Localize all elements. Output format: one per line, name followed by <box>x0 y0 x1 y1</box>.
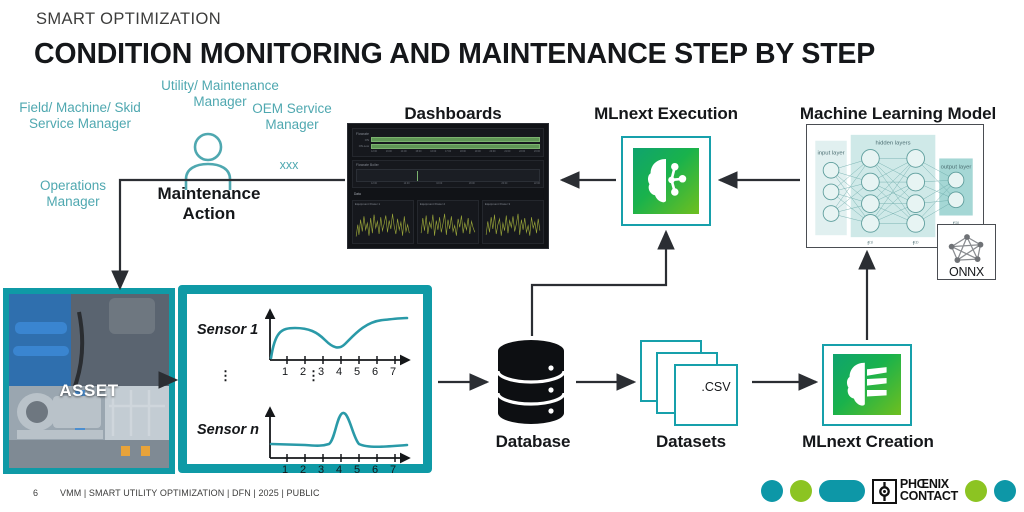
dashboard-cell-title: Equipment Power 2 <box>420 203 476 206</box>
xtick: 3 <box>318 464 324 476</box>
dashboard-cell-title: Equipment Power 3 <box>485 203 541 206</box>
xtick: 4 <box>336 464 342 476</box>
layer-annotation: f⁽¹⁾ <box>867 241 873 247</box>
sensor-n-chart <box>265 404 417 466</box>
mlnext-execution-label: MLnext Execution <box>570 104 762 124</box>
datasets-stack[interactable]: .CSV <box>640 340 748 428</box>
tick: 22:00 <box>534 182 540 185</box>
tick: 18:00 <box>460 150 466 153</box>
sensor-n-label: Sensor n <box>197 422 259 438</box>
eyebrow-text: SMART OPTIMIZATION <box>36 10 221 29</box>
logo-pill-teal <box>819 480 865 502</box>
database-label: Database <box>460 432 606 452</box>
sensor-1-chart <box>265 306 417 368</box>
footer-text: VMM | SMART UTILITY OPTIMIZATION | DFN |… <box>60 488 320 498</box>
tick: 22:00 <box>519 150 525 153</box>
dashboard-panel-title: Flowrate Boiler <box>356 163 540 167</box>
tick: 12:00 <box>371 182 377 185</box>
hidden-layers-label: hidden layers <box>876 141 911 147</box>
xtick: 7 <box>390 366 396 378</box>
tick: 16:00 <box>436 182 442 185</box>
asset-photo: ASSET <box>9 294 169 468</box>
tick: 17:00 <box>445 150 451 153</box>
role-label-operations-manager: Operations Manager <box>14 178 132 210</box>
tick: 23:00 <box>534 150 540 153</box>
xtick: 7 <box>390 464 396 476</box>
dashboards-panel[interactable]: Flowrate ON ON-Low 12:00 13:00 14:00 15:… <box>347 123 549 249</box>
state-bar <box>371 137 540 142</box>
logo-dot-teal-2 <box>994 480 1016 502</box>
csv-label: .CSV <box>684 380 748 394</box>
tick: 14:00 <box>404 182 410 185</box>
xtick: 6 <box>372 464 378 476</box>
mlnext-creation-icon <box>833 354 901 415</box>
dashboard-panel-flowrate: Flowrate ON ON-Low 12:00 13:00 14:00 15:… <box>352 128 544 157</box>
timeseries-chart <box>355 208 411 242</box>
xtick: 6 <box>372 366 378 378</box>
xtick: 4 <box>336 366 342 378</box>
logo-dot-green-1 <box>790 480 812 502</box>
machine-learning-model-label: Machine Learning Model <box>778 104 1018 124</box>
tick: 14:00 <box>401 150 407 153</box>
vertical-ellipsis-left: ⋮ <box>219 372 232 380</box>
tick: 18:00 <box>469 182 475 185</box>
mlnext-creation-label: MLnext Creation <box>772 432 964 452</box>
xtick: 5 <box>354 464 360 476</box>
role-label-extra: xxx <box>258 158 320 173</box>
datasets-label: Datasets <box>618 432 764 452</box>
sparkline-chart <box>356 169 540 182</box>
dashboard-section-title: Data <box>352 191 544 197</box>
dataset-sheet-front <box>674 364 738 426</box>
role-label-field-service-manager: Field/ Machine/ Skid Service Manager <box>12 100 148 132</box>
xtick: 2 <box>300 366 306 378</box>
mlnext-creation-card[interactable] <box>822 344 912 426</box>
phoenix-contact-mark: PHŒNIX CONTACT <box>872 479 958 504</box>
state-bar-key: ON <box>356 138 369 142</box>
onnx-label: ONNX <box>949 266 984 280</box>
sensor-1-label: Sensor 1 <box>197 322 258 338</box>
state-bar-row: ON <box>356 137 540 142</box>
tick: 12:00 <box>371 150 377 153</box>
dashboard-chart-cell: Equipment Power 3 <box>482 200 544 244</box>
onnx-badge[interactable]: ONNX <box>937 224 996 280</box>
output-layer-label: output layer <box>941 164 972 170</box>
dashboard-chart-cell: Equipment Power 2 <box>417 200 479 244</box>
dashboards-label: Dashboards <box>348 104 558 124</box>
dashboard-panel-title: Flowrate <box>356 132 540 136</box>
tick: 16:00 <box>430 150 436 153</box>
arrow-database-to-exec <box>532 232 666 336</box>
brand-logo: PHŒNIX CONTACT <box>761 478 1016 504</box>
dashboard-cell-title: Equipment Power 1 <box>355 203 411 206</box>
asset-card[interactable]: ASSET <box>3 288 175 474</box>
maintenance-action-label: Maintenance Action <box>134 184 284 223</box>
mlnext-brain-icon <box>633 148 699 214</box>
tick: 20:00 <box>501 182 507 185</box>
sensor-signals-card[interactable]: Sensor 1 Sensor n ⋮ ⋮ 1 2 3 4 5 6 7 <box>178 285 432 473</box>
tick: 15:00 <box>415 150 421 153</box>
tick: 20:00 <box>490 150 496 153</box>
tick: 19:00 <box>475 150 481 153</box>
onnx-graph-icon <box>942 233 992 266</box>
xtick: 2 <box>300 464 306 476</box>
time-axis: 12:00 14:00 16:00 18:00 20:00 22:00 <box>356 182 540 185</box>
brand-line-2: CONTACT <box>900 491 958 503</box>
logo-dot-green-2 <box>965 480 987 502</box>
xtick: 1 <box>282 366 288 378</box>
mlnext-execution-card[interactable] <box>621 136 711 226</box>
state-bar-row: ON-Low <box>356 144 540 149</box>
xtick: 3 <box>318 366 324 378</box>
role-label-oem-service-manager: OEM Service Manager <box>238 101 346 133</box>
page-title: CONDITION MONITORING AND MAINTENANCE STE… <box>34 38 875 71</box>
timeseries-chart <box>420 208 476 242</box>
layer-annotation: f⁽²⁾ <box>913 241 919 247</box>
state-bar <box>371 144 540 149</box>
timeseries-chart <box>485 208 541 242</box>
slide-number: 6 <box>33 488 38 498</box>
dashboard-chart-grid: Equipment Power 1 Equipment Power 2 Equi… <box>352 200 544 244</box>
time-axis: 12:00 13:00 14:00 15:00 16:00 17:00 18:0… <box>356 150 540 153</box>
dashboard-panel-flowrate-boiler: Flowrate Boiler 12:00 14:00 16:00 18:00 … <box>352 160 544 189</box>
xtick: 5 <box>354 366 360 378</box>
logo-dot-teal-1 <box>761 480 783 502</box>
database-icon[interactable] <box>493 338 569 426</box>
dashboard-chart-cell: Equipment Power 1 <box>352 200 414 244</box>
asset-label: ASSET <box>9 381 169 401</box>
tick: 21:00 <box>504 150 510 153</box>
input-layer-label: input layer <box>817 151 844 157</box>
phoenix-contact-wordmark: PHŒNIX CONTACT <box>900 479 958 503</box>
person-icon <box>182 132 234 190</box>
state-bar-key: ON-Low <box>356 144 369 148</box>
xtick: 1 <box>282 464 288 476</box>
slide-root: SMART OPTIMIZATION CONDITION MONITORING … <box>0 0 1024 512</box>
phoenix-p-icon <box>872 479 897 504</box>
tick: 13:00 <box>386 150 392 153</box>
